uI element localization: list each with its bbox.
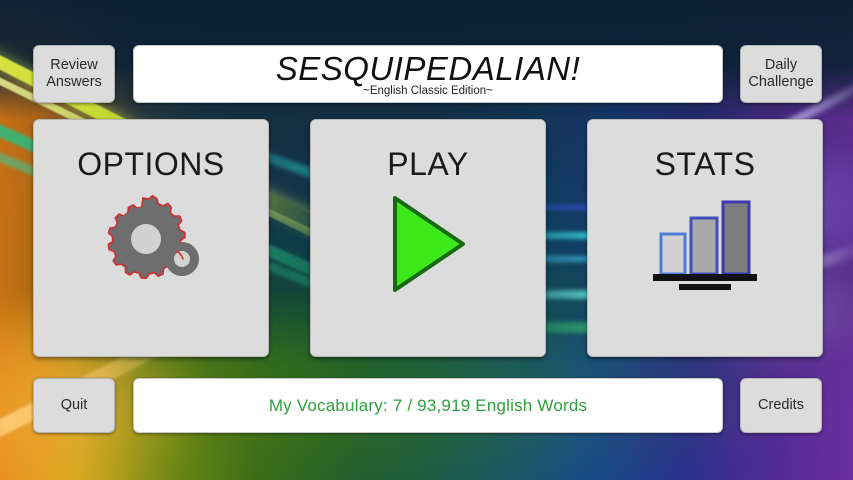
play-triangle-icon	[311, 192, 545, 296]
gears-icon	[34, 192, 268, 307]
options-panel-title: OPTIONS	[34, 146, 268, 183]
title-banner: SESQUIPEDALIAN! ~English Classic Edition…	[133, 45, 723, 103]
options-panel-button[interactable]: OPTIONS	[33, 119, 269, 357]
game-title: SESQUIPEDALIAN!	[276, 51, 581, 87]
quit-button[interactable]: Quit	[33, 378, 115, 433]
review-answers-line1: Review	[50, 57, 98, 73]
quit-label: Quit	[61, 397, 88, 414]
stats-panel-title: STATS	[588, 146, 822, 183]
play-panel-button[interactable]: PLAY	[310, 119, 546, 357]
review-answers-button[interactable]: Review Answers	[33, 45, 115, 103]
review-answers-line2: Answers	[46, 74, 102, 90]
credits-button[interactable]: Credits	[740, 378, 822, 433]
daily-challenge-label: Daily Challenge	[748, 57, 813, 91]
vocabulary-status-bar: My Vocabulary: 7 / 93,919 English Words	[133, 378, 723, 433]
credits-label: Credits	[758, 397, 804, 414]
play-panel-title: PLAY	[311, 146, 545, 183]
bar-chart-icon	[588, 192, 822, 296]
vocabulary-status-text: My Vocabulary: 7 / 93,919 English Words	[269, 396, 587, 416]
review-answers-label: Review Answers	[46, 57, 102, 91]
game-subtitle: ~English Classic Edition~	[363, 85, 493, 97]
game-main-menu-screen: Review Answers SESQUIPEDALIAN! ~English …	[0, 0, 853, 480]
daily-challenge-line2: Challenge	[748, 74, 813, 90]
daily-challenge-line1: Daily	[765, 57, 797, 73]
daily-challenge-button[interactable]: Daily Challenge	[740, 45, 822, 103]
stats-panel-button[interactable]: STATS	[587, 119, 823, 357]
